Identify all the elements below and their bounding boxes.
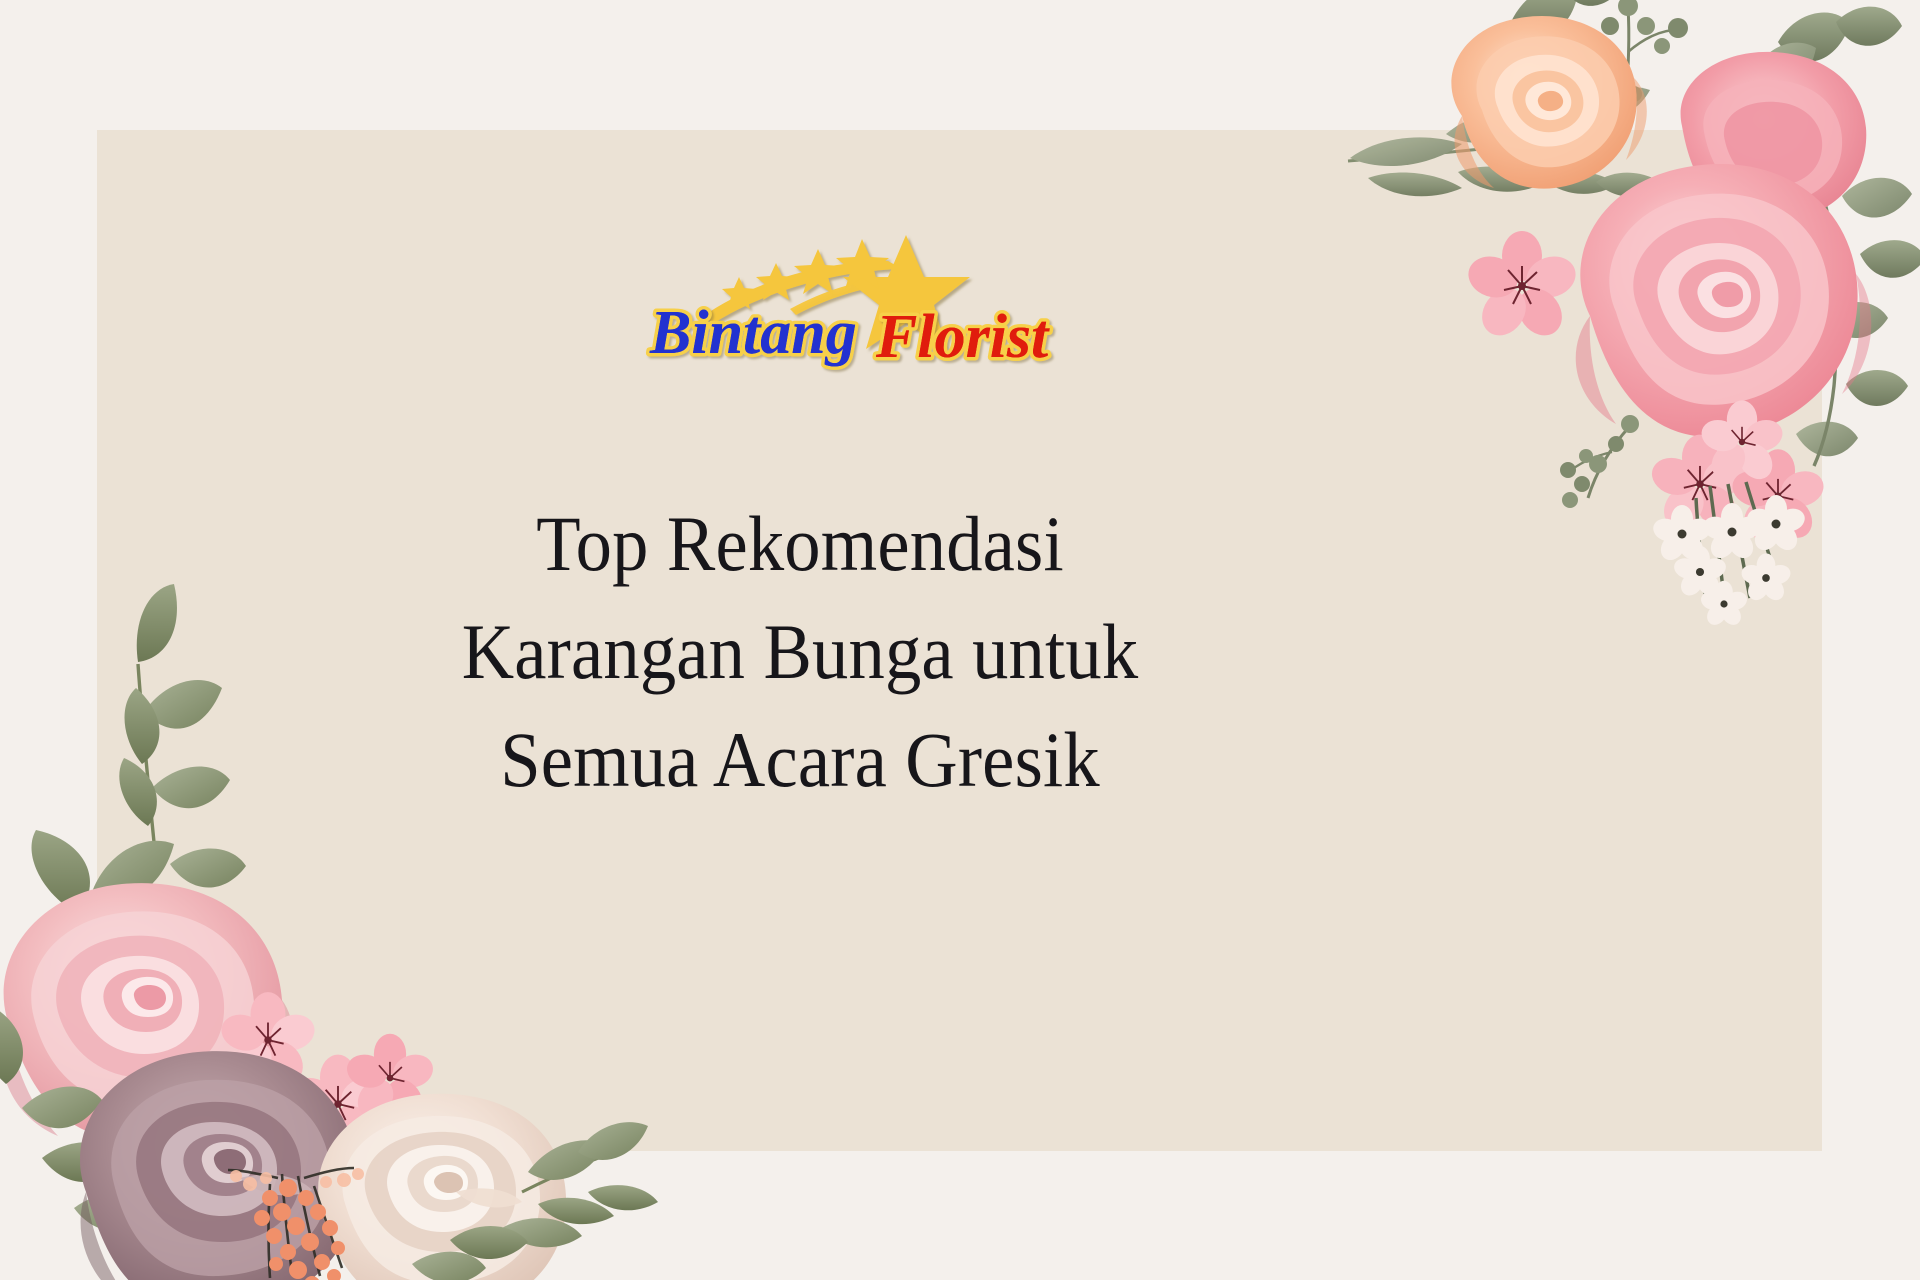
page-title: Top Rekomendasi Karangan Bunga untuk Sem… <box>335 490 1265 814</box>
logo-word-florist-fill: Florist <box>875 303 1050 371</box>
star-small-3 <box>794 249 842 294</box>
headline-line-1: Top Rekomendasi <box>335 490 1265 598</box>
berry-sprig-top <box>1577 0 1688 106</box>
headline-line-2: Karangan Bunga untuk <box>335 598 1265 706</box>
banner-canvas: Bintang Bintang Florist Florist Top Reko… <box>0 0 1920 1280</box>
orange-berry-spray <box>228 1168 364 1280</box>
logo-word-bintang-fill: Bintang <box>649 299 857 367</box>
eucalyptus-upper <box>1466 0 1622 80</box>
headline-line-3: Semua Acara Gresik <box>335 706 1265 814</box>
bintang-florist-logo: Bintang Bintang Florist Florist <box>640 225 1060 375</box>
